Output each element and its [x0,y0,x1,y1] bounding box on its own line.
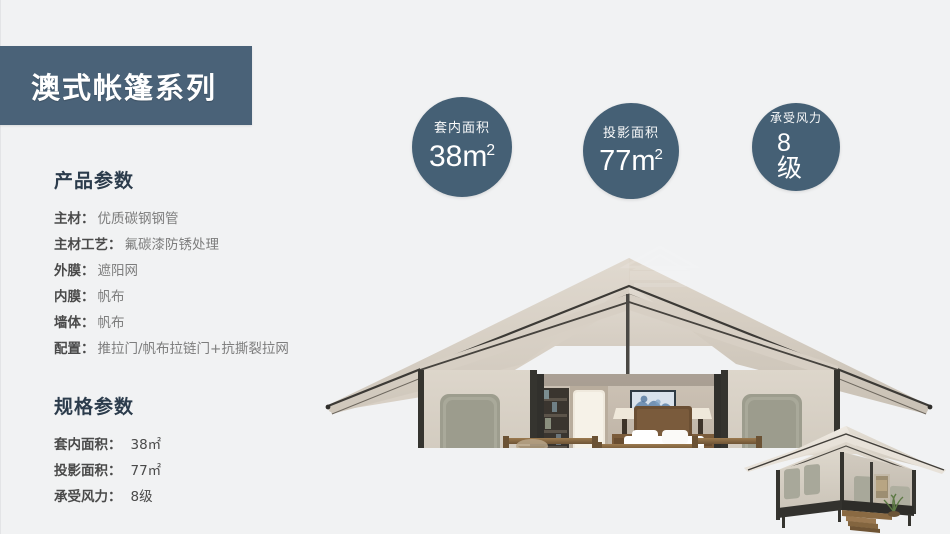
title-banner: 澳式帐篷系列 [0,46,252,125]
product-params-heading: 产品参数 [54,166,354,193]
spec-value: 38㎡ [131,437,162,453]
stat-value: 8级 [777,131,815,181]
spec-row: 承受风力：8级 [54,484,354,510]
spec-value: 77㎡ [131,463,162,479]
spec-label: 内膜： [54,289,95,305]
spec-row: 内膜：帆布 [54,284,354,310]
spec-value: 8级 [131,489,153,505]
spec-label: 外膜： [54,263,95,279]
spec-value: 帆布 [98,289,125,305]
spec-row: 外膜：遮阳网 [54,258,354,284]
spec-params-heading: 规格参数 [54,392,354,419]
stat-badge-interior-area: 套内面积 38m2 [412,97,512,197]
spec-label: 套内面积： [54,437,122,453]
spec-row: 主材工艺：氟碳漆防锈处理 [54,232,354,258]
spec-value: 氟碳漆防锈处理 [125,237,220,253]
spec-label: 承受风力： [54,489,122,505]
secondary-tent-image [742,412,950,534]
stat-value: 77m2 [599,147,663,176]
spec-value: 遮阳网 [98,263,139,279]
spec-label: 投影面积： [54,463,122,479]
stat-value: 38m2 [429,142,495,172]
spec-row: 投影面积：77㎡ [54,458,354,484]
spec-row: 主材：优质碳钢钢管 [54,206,354,232]
slide-canvas: 澳式帐篷系列 产品参数 主材：优质碳钢钢管 主材工艺：氟碳漆防锈处理 外膜：遮阳… [0,0,950,534]
stat-badge-projected-area: 投影面积 77m2 [583,103,679,199]
spec-label: 主材： [54,211,95,227]
spec-value: 帆布 [98,315,125,331]
spec-label: 墙体： [54,315,95,331]
spec-label: 配置： [54,341,95,357]
stat-label: 投影面积 [603,127,659,140]
stat-label: 承受风力 [770,112,822,124]
page-title: 澳式帐篷系列 [0,65,217,107]
spec-row: 配置：推拉门/帆布拉链门+抗撕裂拉网 [54,336,354,362]
spec-row: 套内面积：38㎡ [54,432,354,458]
spec-panel: 产品参数 主材：优质碳钢钢管 主材工艺：氟碳漆防锈处理 外膜：遮阳网 内膜：帆布… [54,166,354,510]
stat-label: 套内面积 [434,122,490,135]
main-tent-image [318,198,940,448]
stat-badge-wind-resistance: 承受风力 8级 [752,103,840,191]
spec-label: 主材工艺： [54,237,122,253]
spec-row: 墙体：帆布 [54,310,354,336]
spec-value: 推拉门/帆布拉链门+抗撕裂拉网 [98,341,289,357]
spec-value: 优质碳钢钢管 [98,211,179,227]
